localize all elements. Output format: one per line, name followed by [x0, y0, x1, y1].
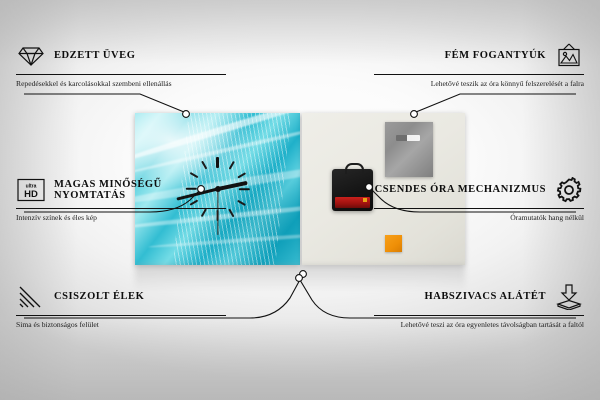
callout-description: Lehetővé teszik az óra könnyű felszerelé… [374, 79, 584, 88]
polished-edges-icon [16, 283, 46, 311]
callout-description: Lehetővé teszi az óra egyenletes távolsá… [374, 320, 584, 329]
callout-header: CSENDES ÓRA MECHANIZMUS [374, 176, 584, 204]
callout-title: MAGAS MINŐSÉGŰ NYOMTATÁS [54, 179, 226, 202]
divider [16, 315, 226, 316]
callout-header: FÉM FOGANTYÚK [374, 42, 584, 70]
callout-foam-pad: HABSZIVACS ALÁTÉT Lehetővé teszi az óra … [374, 283, 584, 329]
picture-hanger-icon [554, 42, 584, 70]
callout-title: CSENDES ÓRA MECHANIZMUS [375, 184, 546, 196]
callout-description: Repedésekkel és karcolásokkal szembeni e… [16, 79, 226, 88]
callout-title: HABSZIVACS ALÁTÉT [425, 291, 547, 303]
callout-header: ultra HD MAGAS MINŐSÉGŰ NYOMTATÁS [16, 176, 226, 204]
callout-description: Óramutatók hang nélkül [374, 213, 584, 222]
callout-header: HABSZIVACS ALÁTÉT [374, 283, 584, 311]
metal-hanger-bracket [385, 122, 433, 177]
callout-title: FÉM FOGANTYÚK [445, 50, 546, 62]
diamond-icon [16, 42, 46, 70]
callout-header: CSISZOLT ÉLEK [16, 283, 226, 311]
foam-spacer-pad [385, 235, 402, 252]
callout-description: Sima és biztonságos felület [16, 320, 226, 329]
quartz-movement [332, 169, 373, 211]
divider [374, 208, 584, 209]
leader-line-handles [416, 94, 576, 112]
callout-silent-mechanism: CSENDES ÓRA MECHANIZMUS Óramutatók hang … [374, 176, 584, 222]
leader-line-glass [24, 94, 184, 112]
infographic-canvas: EDZETT ÜVEG Repedésekkel és karcolásokka… [0, 0, 600, 400]
callout-tempered-glass: EDZETT ÜVEG Repedésekkel és karcolásokka… [16, 42, 226, 88]
callout-high-quality-print: ultra HD MAGAS MINŐSÉGŰ NYOMTATÁS Intenz… [16, 176, 226, 222]
ultra-hd-icon: ultra HD [16, 176, 46, 204]
svg-text:HD: HD [24, 189, 38, 200]
battery [335, 197, 370, 208]
callout-description: Intenzív színek és éles kép [16, 213, 226, 222]
gear-icon [554, 176, 584, 204]
divider [16, 74, 226, 75]
callout-metal-handles: FÉM FOGANTYÚK Lehetővé teszik az óra kön… [374, 42, 584, 88]
divider [374, 74, 584, 75]
movement-hook [345, 163, 364, 174]
divider [374, 315, 584, 316]
callout-polished-edges: CSISZOLT ÉLEK Sima és biztonságos felüle… [16, 283, 226, 329]
callout-title: EDZETT ÜVEG [54, 50, 135, 62]
foam-pad-arrow-icon [554, 283, 584, 311]
callout-title: CSISZOLT ÉLEK [54, 291, 144, 303]
divider [16, 208, 226, 209]
callout-header: EDZETT ÜVEG [16, 42, 226, 70]
